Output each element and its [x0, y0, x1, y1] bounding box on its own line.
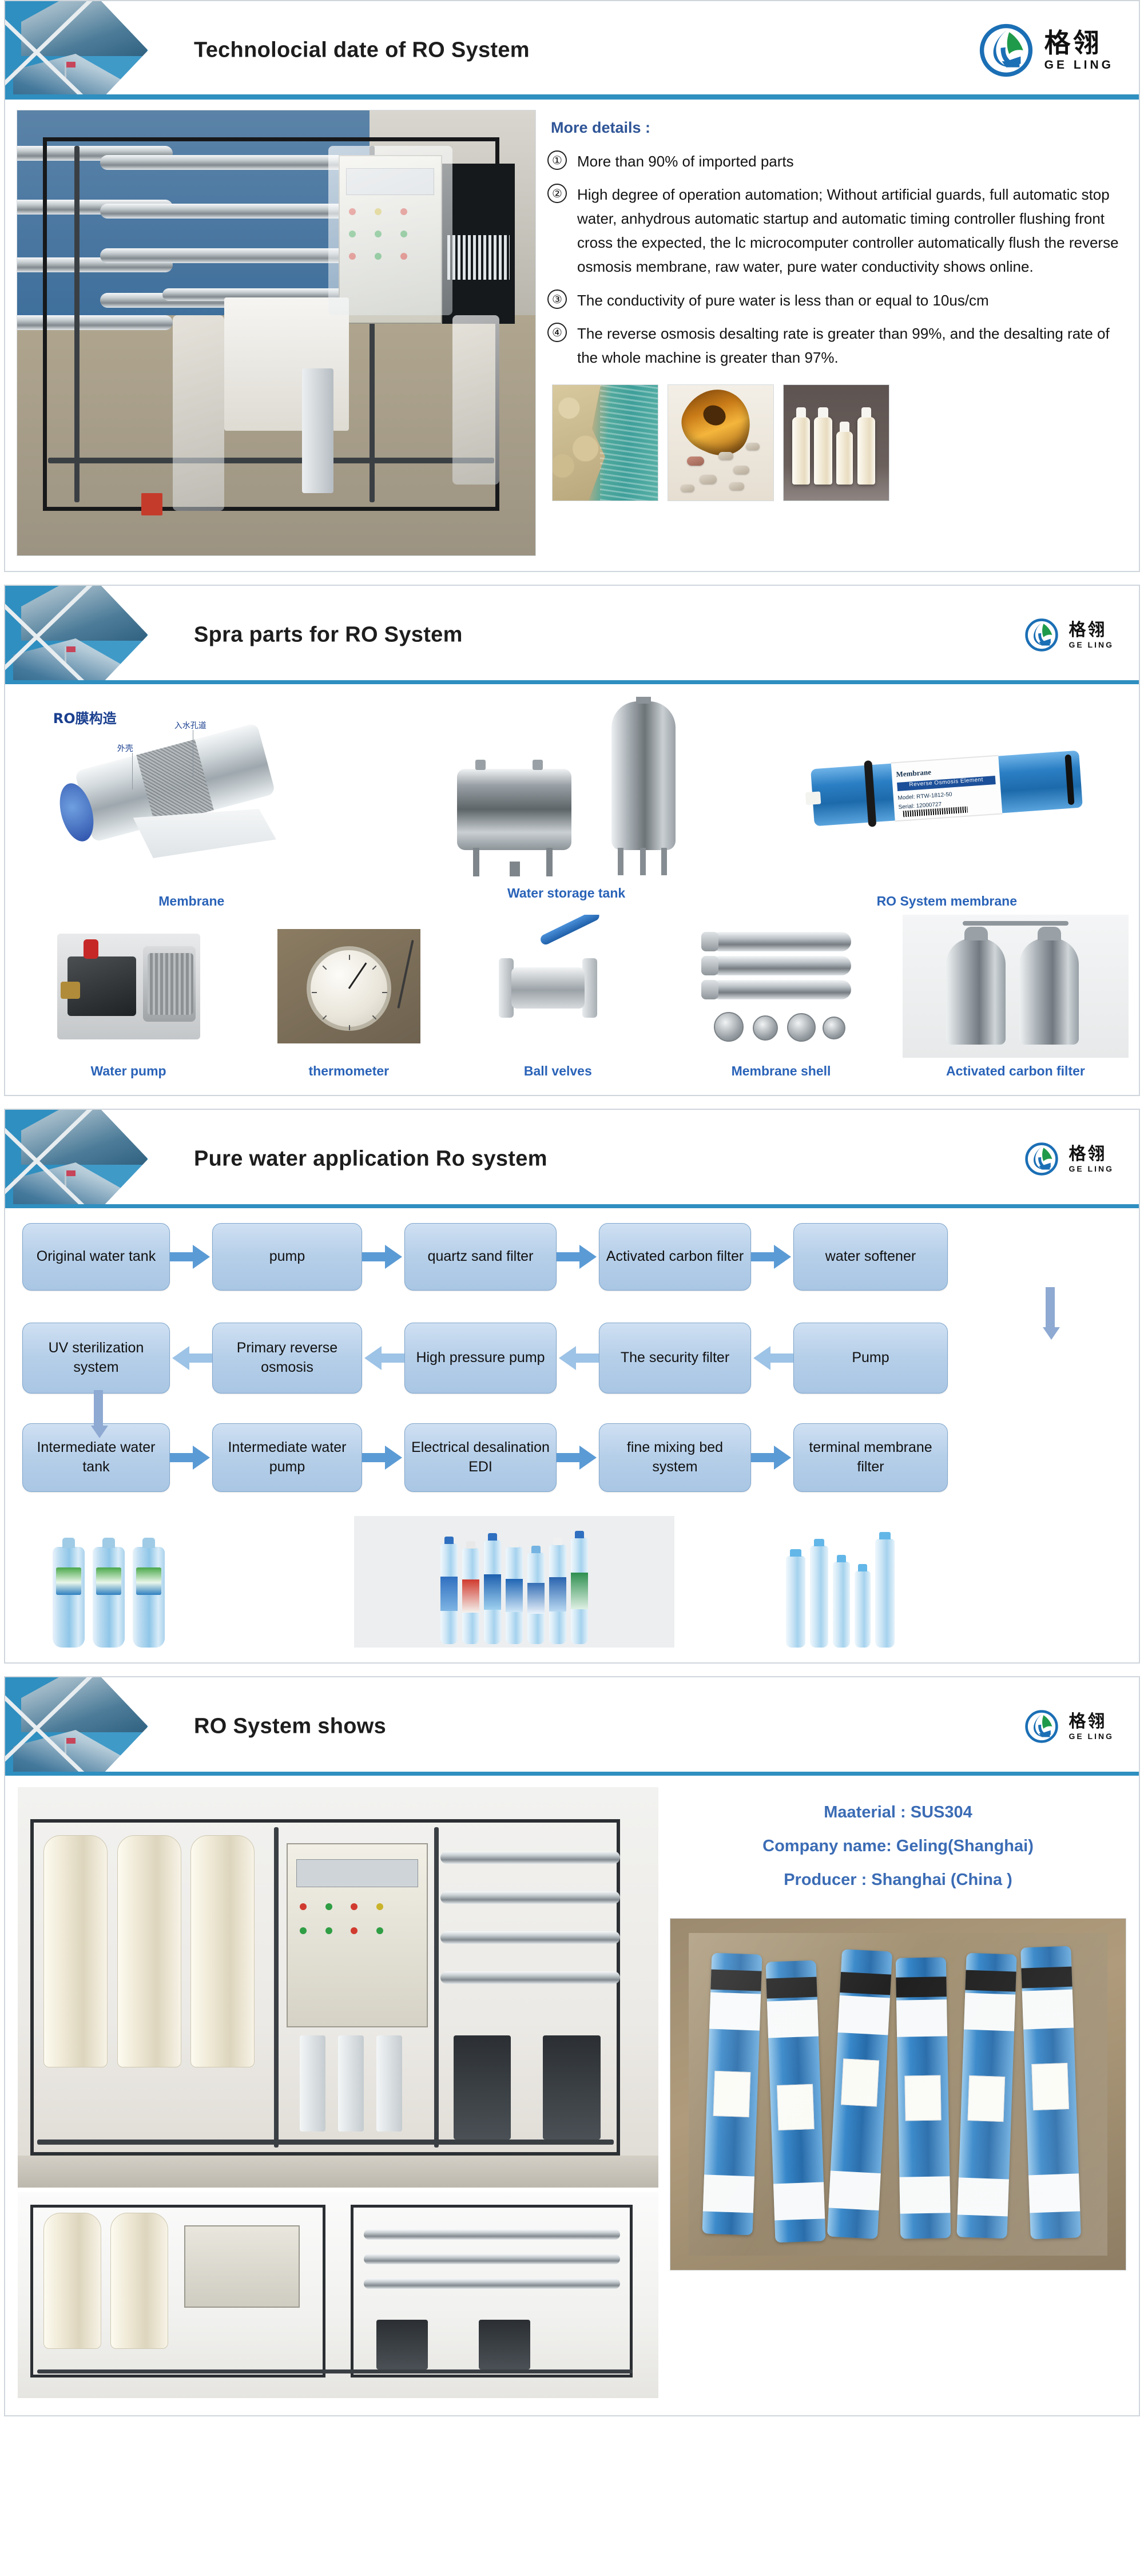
flow-row-2: UV sterilization system Primary reverse …	[22, 1323, 1122, 1394]
header-underline	[5, 1204, 1139, 1208]
arrow-down-icon	[91, 1390, 106, 1438]
logo-english-text: GE LING	[1044, 59, 1114, 71]
header-corner-graphic	[5, 1, 177, 100]
header-underline	[5, 1772, 1139, 1776]
arrow-right-icon	[362, 1244, 404, 1270]
flow-node: Electrical desalination EDI	[404, 1423, 557, 1492]
part-label: Ball velves	[456, 1063, 660, 1079]
logo-english-text: GE LING	[1068, 1732, 1114, 1740]
flow-node: Intermediate water pump	[212, 1423, 362, 1492]
company-logo: 格翎 GE LING	[1023, 616, 1114, 654]
product-info-block: Maaterial : SUS304 Company name: Geling(…	[670, 1787, 1126, 1918]
part-thermometer: thermometer	[241, 915, 456, 1079]
flow-node: The security filter	[599, 1323, 751, 1394]
section-title: Spra parts for RO System	[194, 623, 463, 648]
part-water-storage-tank: Water storage tank	[368, 697, 765, 901]
arrow-left-icon	[362, 1345, 404, 1371]
section-technological-date: Technolocial date of RO System 格翎 GE LIN…	[4, 0, 1140, 572]
water-storage-tank-photo	[368, 697, 765, 880]
arrow-left-icon	[751, 1345, 793, 1371]
flow-node: Original water tank	[22, 1223, 170, 1291]
parts-row-1: RO膜构造 外壳 入水孔道 Membrane	[15, 697, 1129, 909]
arrow-right-icon	[751, 1244, 793, 1270]
arrow-left-icon	[170, 1345, 212, 1371]
part-label: Water storage tank	[368, 886, 765, 901]
logo-chinese-text: 格翎	[1068, 1146, 1114, 1163]
product-detail-page: Technolocial date of RO System 格翎 GE LIN…	[0, 0, 1144, 2576]
company-logo: 格翎 GE LING	[1023, 1140, 1114, 1178]
process-flow-diagram: Original water tank pump quartz sand fil…	[5, 1208, 1139, 1510]
section-title: Technolocial date of RO System	[194, 38, 530, 63]
section-header: Pure water application Ro system 格翎 GE L…	[5, 1110, 1139, 1208]
parts-row-2: Water pump	[15, 915, 1129, 1079]
packed-ro-membranes-photo	[670, 1918, 1126, 2271]
info-and-membranes: Maaterial : SUS304 Company name: Geling(…	[670, 1787, 1126, 2398]
logo-chinese-text: 格翎	[1068, 1713, 1114, 1730]
flow-row-1: Original water tank pump quartz sand fil…	[22, 1223, 1122, 1291]
arrow-right-icon	[557, 1244, 599, 1270]
arrow-right-icon	[362, 1444, 404, 1471]
detail-text: The conductivity of pure water is less t…	[577, 288, 989, 312]
part-ball-valve: Ball velves	[456, 915, 660, 1079]
section-title: Pure water application Ro system	[194, 1147, 547, 1172]
logo-chinese-text: 格翎	[1044, 30, 1114, 56]
section-header: Technolocial date of RO System 格翎 GE LIN…	[5, 1, 1139, 100]
part-label: thermometer	[241, 1063, 456, 1079]
geling-logo-icon	[1023, 616, 1060, 654]
flow-node: High pressure pump	[404, 1323, 557, 1394]
arrow-left-icon	[557, 1345, 599, 1371]
logo-english-text: GE LING	[1068, 1165, 1114, 1173]
part-label: Membrane shell	[660, 1063, 903, 1079]
flow-node: Pump	[793, 1323, 948, 1394]
detail-item: ① More than 90% of imported parts	[547, 149, 1127, 173]
arrow-right-icon	[751, 1444, 793, 1471]
company-logo: 格翎 GE LING	[1023, 1708, 1114, 1745]
part-activated-carbon-filter: Activated carbon filter	[903, 915, 1129, 1079]
element-model-text: Model: RTW-1812-50	[897, 791, 952, 801]
part-label: Water pump	[15, 1063, 241, 1079]
element-brand-text: Membrane	[896, 768, 931, 779]
flow-node: quartz sand filter	[404, 1223, 557, 1291]
geling-logo-icon	[976, 20, 1036, 81]
diagram-lead-label: 外壳	[117, 743, 133, 754]
detail-number: ②	[547, 184, 567, 203]
detail-number: ①	[547, 150, 567, 170]
arrow-right-icon	[170, 1244, 212, 1270]
geling-logo-icon	[1023, 1708, 1060, 1745]
header-underline	[5, 680, 1139, 684]
section-body: More details : ① More than 90% of import…	[5, 100, 1139, 571]
cosmetics-bottles-photo	[783, 384, 889, 501]
detail-text: High degree of operation automation; Wit…	[577, 182, 1127, 279]
detail-number: ④	[547, 323, 567, 342]
flow-row-3: Intermediate water tank Intermediate wat…	[22, 1423, 1122, 1492]
part-water-pump: Water pump	[15, 915, 241, 1079]
flow-node: terminal membrane filter	[793, 1423, 948, 1492]
flow-node: water softener	[793, 1223, 948, 1291]
section-body: RO膜构造 外壳 入水孔道 Membrane	[5, 684, 1139, 1095]
detail-text: The reverse osmosis desalting rate is gr…	[577, 321, 1127, 370]
company-logo: 格翎 GE LING	[976, 20, 1114, 81]
logo-english-text: GE LING	[1068, 641, 1114, 649]
seawater-desalination-photo	[552, 384, 658, 501]
water-pump-photo	[15, 915, 241, 1058]
five-gallon-water-bottles-photo	[28, 1516, 348, 1648]
header-underline	[5, 94, 1139, 100]
flow-node: Activated carbon filter	[599, 1223, 751, 1291]
section-spare-parts: Spra parts for RO System 格翎 GE LING	[4, 585, 1140, 1096]
ro-system-full-unit-photo	[18, 1787, 658, 2188]
header-corner-graphic	[5, 1110, 177, 1208]
section-pure-water-application: Pure water application Ro system 格翎 GE L…	[4, 1109, 1140, 1664]
pet-water-bottles-photo	[680, 1516, 1000, 1648]
geling-logo-icon	[1023, 1140, 1060, 1178]
ro-element-photo: Membrane Reverse Osmosis Element Model: …	[765, 697, 1129, 880]
section-body: Maaterial : SUS304 Company name: Geling(…	[5, 1776, 1139, 2415]
section-title: RO System shows	[194, 1714, 386, 1739]
ro-membrane-structure-diagram: RO膜构造 外壳 入水孔道	[31, 697, 352, 880]
detail-item: ② High degree of operation automation; W…	[547, 182, 1127, 279]
company-name-text: Company name: Geling(Shanghai)	[676, 1837, 1121, 1856]
detail-number: ③	[547, 289, 567, 309]
material-text: Maaterial : SUS304	[676, 1803, 1121, 1822]
part-label: RO System membrane	[765, 894, 1129, 909]
application-photos	[5, 1510, 1139, 1662]
pharmaceutical-pills-photo	[668, 384, 774, 501]
part-membrane-shell: Membrane shell	[660, 915, 903, 1079]
details-panel: More details : ① More than 90% of import…	[547, 110, 1127, 556]
ro-system-skid-photo	[17, 110, 536, 556]
section-header: RO System shows 格翎 GE LING	[5, 1677, 1139, 1776]
flow-node: UV sterilization system	[22, 1323, 170, 1394]
flow-node: pump	[212, 1223, 362, 1291]
diagram-lead-label: 入水孔道	[174, 720, 206, 731]
detail-item: ④ The reverse osmosis desalting rate is …	[547, 321, 1127, 370]
header-corner-graphic	[5, 1677, 177, 1776]
section-ro-system-shows: RO System shows 格翎 GE LING	[4, 1676, 1140, 2416]
part-membrane: RO膜构造 外壳 入水孔道 Membrane	[15, 697, 368, 909]
part-ro-system-membrane: Membrane Reverse Osmosis Element Model: …	[765, 697, 1129, 909]
activated-carbon-filter-photo	[903, 915, 1129, 1058]
header-corner-graphic	[5, 586, 177, 684]
arrow-right-icon	[170, 1444, 212, 1471]
bottled-water-variety-photo	[354, 1516, 674, 1648]
details-list: ① More than 90% of imported parts ② High…	[547, 149, 1127, 370]
logo-chinese-text: 格翎	[1068, 622, 1114, 639]
more-details-heading: More details :	[551, 119, 1127, 137]
application-thumbnails	[552, 384, 1127, 501]
membrane-shell-photo	[660, 915, 903, 1058]
detail-text: More than 90% of imported parts	[577, 149, 794, 173]
flow-node: fine mixing bed system	[599, 1423, 751, 1492]
flow-node: Primary reverse osmosis	[212, 1323, 362, 1394]
part-label: Membrane	[15, 894, 368, 909]
diagram-title-cn: RO膜构造	[53, 707, 117, 727]
section-header: Spra parts for RO System 格翎 GE LING	[5, 586, 1139, 684]
detail-item: ③ The conductivity of pure water is less…	[547, 288, 1127, 312]
arrow-right-icon	[557, 1444, 599, 1471]
equipment-photos	[18, 1787, 658, 2398]
producer-text: Producer : Shanghai (China )	[676, 1871, 1121, 1890]
arrow-down-icon	[1043, 1287, 1058, 1340]
thermometer-photo	[241, 915, 456, 1058]
ro-system-side-view-photo	[18, 2192, 658, 2398]
ball-valve-photo	[456, 915, 660, 1058]
part-label: Activated carbon filter	[903, 1063, 1129, 1079]
